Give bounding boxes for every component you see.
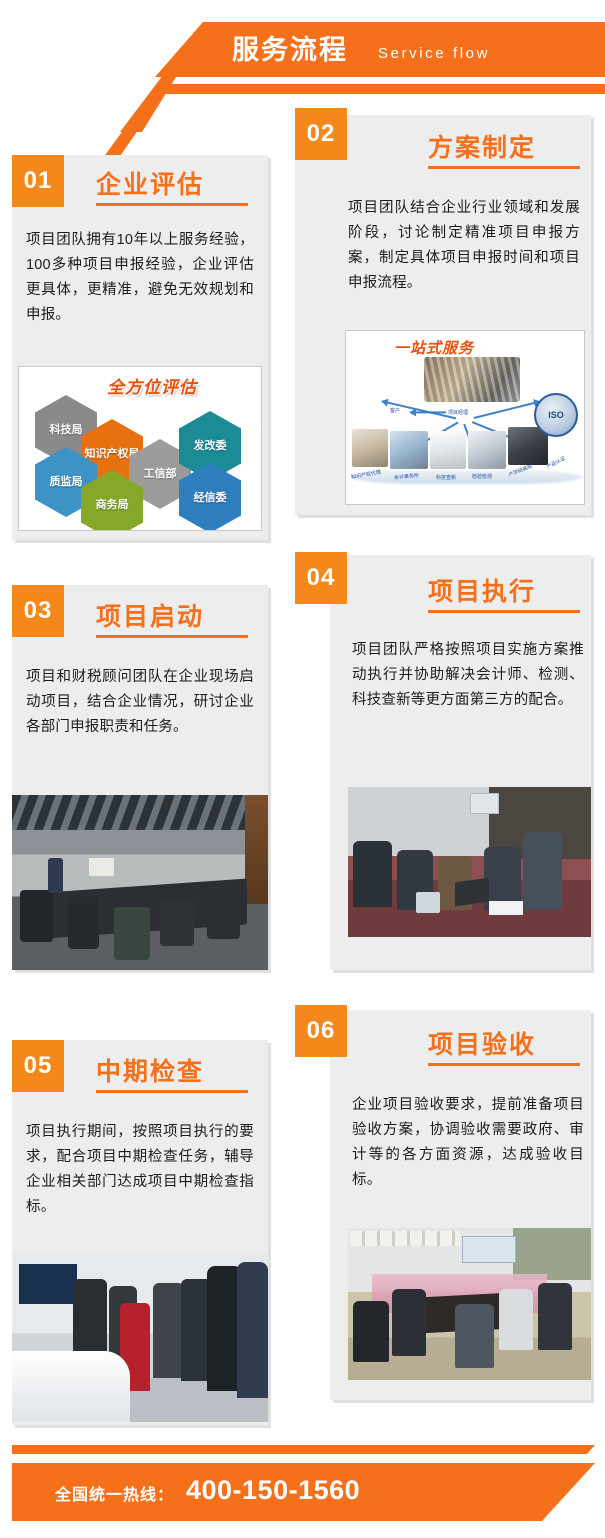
one-stop-node-label-6: 产品认证: [546, 455, 567, 471]
hexagon-diagram: 全方位评估 科技局 知识产权局 质监局 工信部 商务局 发改委 经信委: [18, 366, 262, 531]
step-title-05: 中期检查: [96, 1052, 204, 1088]
step-badge-02: 02: [295, 108, 347, 160]
step-badge-05: 05: [12, 1040, 64, 1092]
step-body-02: 项目团队结合企业行业领域和发展阶段，讨论制定精准项目申报方案，制定具体项目申报时…: [348, 196, 580, 296]
step-title-03: 项目启动: [96, 597, 204, 633]
step-body-06: 企业项目验收要求，提前准备项目验收方案，协调验收需要政府、审计等的各方面资源，达…: [352, 1093, 584, 1193]
one-stop-arrow-right1: [474, 402, 537, 420]
footer-stripe: [12, 1445, 595, 1454]
step-badge-06: 06: [295, 1005, 347, 1057]
step-body-04: 项目团队严格按照项目实施方案推动执行并协助解决会计师、检测、科技查新等更方面第三…: [352, 638, 584, 713]
page-subtitle: Service flow: [378, 39, 490, 69]
one-stop-service-diagram: 一站式服务 客户 项目经理 ISO 知识产权代理 会计事务所 科技查新 检验检测…: [345, 330, 585, 505]
hotline-label: 全国统一热线：: [55, 1481, 174, 1505]
header-stripe: [150, 84, 605, 94]
hotline-number[interactable]: 400-150-1560: [186, 1475, 360, 1506]
page-header: 服务流程 Service flow: [0, 0, 605, 118]
step-title-04: 项目执行: [428, 572, 536, 608]
step-photo-06: [348, 1228, 591, 1380]
step-photo-04: [348, 787, 591, 937]
one-stop-title: 一站式服务: [394, 337, 474, 358]
step-badge-03: 03: [12, 585, 64, 637]
step-rule-01: [96, 203, 248, 206]
one-stop-center-photo: [424, 357, 520, 402]
hexagon-diagram-title: 全方位评估: [107, 373, 197, 398]
one-stop-node-photo-3: [430, 431, 466, 469]
one-stop-node-photo-4: [468, 431, 506, 469]
step-photo-03: [12, 795, 268, 970]
one-stop-node-photo-1: [352, 429, 388, 467]
step-rule-05: [96, 1090, 248, 1093]
step-title-06: 项目验收: [428, 1025, 536, 1061]
page-footer: 全国统一热线： 400-150-1560: [0, 1425, 605, 1538]
step-badge-04: 04: [295, 552, 347, 604]
step-body-03: 项目和财税顾问团队在企业现场启动项目，结合企业情况，研讨企业各部门申报职责和任务…: [26, 665, 254, 740]
header-stripe-wing: [100, 84, 170, 166]
page-title: 服务流程: [232, 30, 348, 70]
step-rule-03: [96, 635, 248, 638]
one-stop-node-photo-2: [390, 431, 428, 469]
step-body-05: 项目执行期间，按照项目执行的要求，配合项目中期检查任务，辅导企业相关部门达成项目…: [26, 1120, 254, 1220]
step-rule-02: [428, 166, 580, 169]
one-stop-base-shadow: [350, 470, 582, 484]
step-photo-05: [12, 1252, 268, 1422]
step-rule-04: [428, 610, 580, 613]
step-rule-06: [428, 1063, 580, 1066]
one-stop-node-label-4: 检验检测: [472, 473, 492, 480]
one-stop-client-label: 客户: [390, 407, 400, 414]
step-title-01: 企业评估: [96, 165, 204, 201]
step-body-01: 项目团队拥有10年以上服务经验，100多种项目申报经验，企业评估更具体，更精准，…: [26, 228, 254, 328]
one-stop-node-label-3: 科技查新: [436, 474, 456, 481]
step-title-02: 方案制定: [428, 128, 536, 164]
step-badge-01: 01: [12, 155, 64, 207]
iso-seal-icon: ISO: [534, 393, 578, 437]
